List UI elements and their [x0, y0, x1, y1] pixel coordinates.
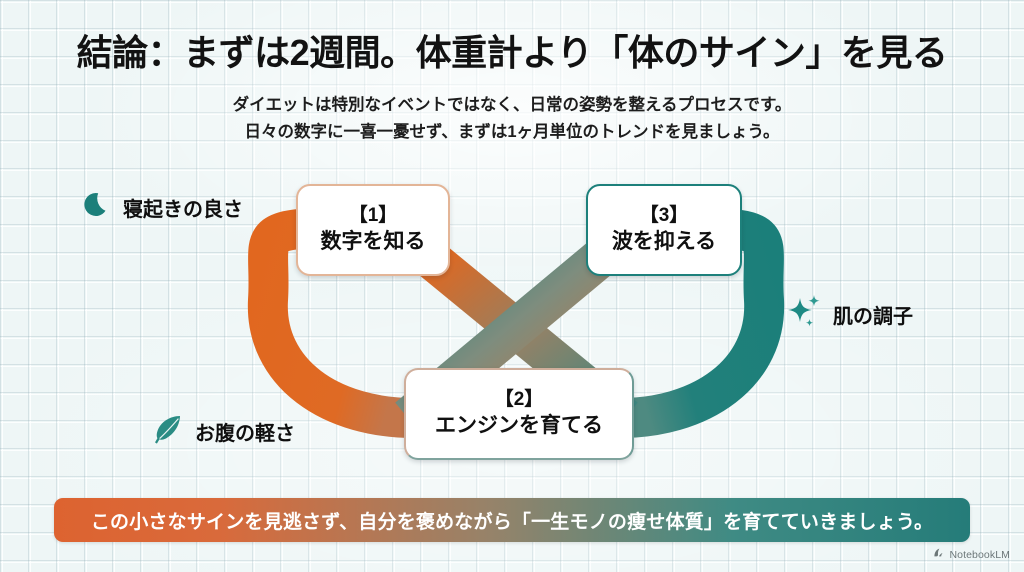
notebooklm-watermark-text: NotebookLM: [949, 549, 1010, 561]
diagram-node-3[interactable]: 【3】 波を抑える: [586, 184, 742, 276]
diagram-node-1[interactable]: 【1】 数字を知る: [296, 184, 450, 276]
subtitle-line-1: ダイエットは特別なイベントではなく、日常の姿勢を整えるプロセスです。: [0, 92, 1024, 119]
infinity-loop-diagram: [0, 0, 1024, 572]
notebooklm-logo-icon: [933, 546, 945, 564]
side-label-light-stomach-text: お腹の軽さ: [195, 417, 295, 446]
summary-banner-text: この小さなサインを見逃さず、自分を褒めながら「一生モノの痩せ体質」を育てていきま…: [91, 507, 933, 534]
side-label-skin-condition-text: 肌の調子: [833, 300, 913, 329]
page-subtitle: ダイエットは特別なイベントではなく、日常の姿勢を整えるプロセスです。 日々の数字…: [0, 92, 1024, 145]
side-label-sleep-quality-text: 寝起きの良さ: [123, 193, 243, 222]
moon-icon: [80, 188, 114, 227]
node-2-label: エンジンを育てる: [435, 412, 603, 439]
node-3-number: 【3】: [640, 204, 689, 228]
feather-icon: [150, 412, 186, 451]
node-1-label: 数字を知る: [321, 228, 426, 255]
node-1-number: 【1】: [349, 204, 398, 228]
page-title: 結論：まずは2週間。体重計より「体のサイン」を見る: [0, 24, 1024, 76]
slide-canvas: 結論：まずは2週間。体重計より「体のサイン」を見る ダイエットは特別なイベントで…: [0, 0, 1024, 572]
sparkle-icon: [784, 292, 824, 337]
subtitle-line-2: 日々の数字に一喜一憂せず、まずは1ヶ月単位のトレンドを見ましょう。: [0, 119, 1024, 146]
summary-banner: この小さなサインを見逃さず、自分を褒めながら「一生モノの痩せ体質」を育てていきま…: [54, 498, 970, 542]
node-3-label: 波を抑える: [612, 228, 716, 255]
diagram-node-2[interactable]: 【2】 エンジンを育てる: [404, 368, 634, 460]
side-label-skin-condition: 肌の調子: [784, 292, 913, 337]
side-label-light-stomach: お腹の軽さ: [150, 412, 295, 451]
notebooklm-watermark: NotebookLM: [933, 546, 1010, 564]
node-2-number: 【2】: [495, 388, 544, 412]
side-label-sleep-quality: 寝起きの良さ: [80, 188, 243, 227]
